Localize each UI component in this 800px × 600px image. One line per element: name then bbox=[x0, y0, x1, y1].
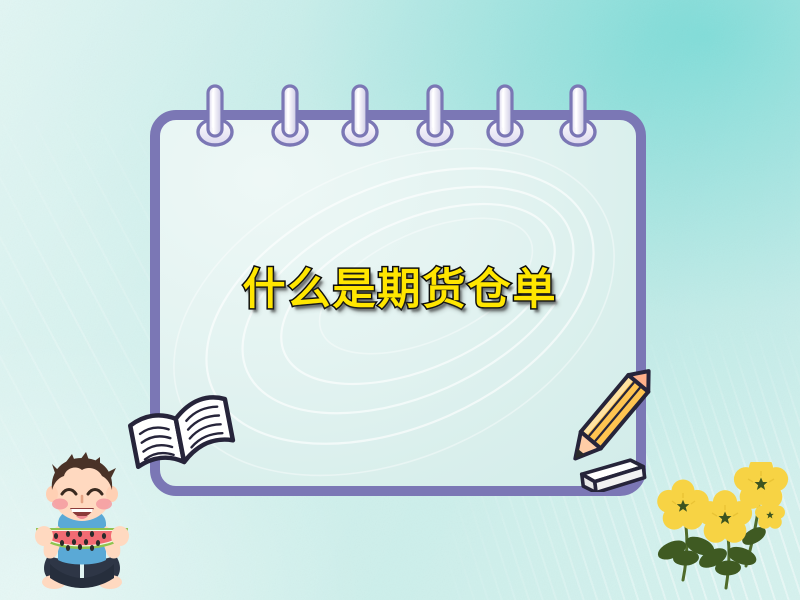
pencil-and-eraser-icon bbox=[560, 366, 660, 492]
page-title: 什么是期货仓单 bbox=[0, 268, 800, 313]
slide-canvas: 什么是期货仓单 bbox=[0, 0, 800, 600]
yellow-flowers-illustration bbox=[650, 462, 800, 600]
boy-eating-watermelon-illustration bbox=[22, 452, 142, 592]
